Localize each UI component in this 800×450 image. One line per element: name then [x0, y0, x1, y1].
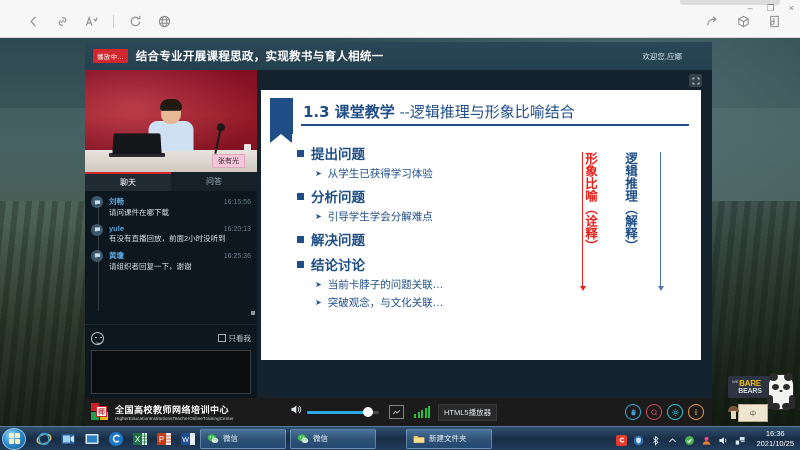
- speaker-video[interactable]: 张有光: [85, 70, 257, 172]
- chat-message-time: 16:25:36: [224, 253, 251, 260]
- brand-name-cn: 全国高校教师网络培训中心: [115, 403, 234, 416]
- bullet-arrow-icon: ➤: [315, 169, 322, 178]
- chat-message-time: 16:20:13: [224, 226, 251, 233]
- taskbar: X P W 微信 微信 新建文件夹: [0, 426, 800, 450]
- volume-slider-fill: [307, 411, 369, 414]
- bullet-level2: ➤ 突破观念，与文化关联…: [315, 295, 547, 310]
- sticker-logo-panel: WE BARE BEARS: [728, 376, 772, 398]
- windows-logo-icon: [9, 433, 20, 444]
- volume-slider[interactable]: [307, 411, 379, 414]
- back-icon[interactable]: [26, 14, 41, 29]
- system-tray: 16:36 2021/10/25: [616, 429, 800, 448]
- bullet-square-icon: [297, 193, 304, 200]
- bullet-level1: 提出问题: [297, 143, 547, 163]
- bullet-text: 从学生已获得学习体验: [328, 166, 433, 181]
- bullet-text: 当前卡脖子的问题关联…: [328, 277, 444, 292]
- bullet-level1: 分析问题: [297, 186, 547, 206]
- bullet-text: 提出问题: [311, 143, 365, 163]
- read-aloud-icon[interactable]: [84, 14, 99, 29]
- slide-viewport: 1.3 课堂教学 --逻辑推理与形象比喻结合 提出问题 ➤ 从学生已获得学习体验: [257, 70, 712, 398]
- screen: – ❐ ×: [0, 0, 800, 450]
- taskbar-clock[interactable]: 16:36 2021/10/25: [752, 429, 794, 448]
- chat-message-list[interactable]: 刘畅 16:15:56 请问课件在哪下载 yule 16:20:13: [85, 191, 257, 319]
- taskbar-item-wechat-2[interactable]: 微信: [290, 429, 376, 449]
- taskbar-item-folder[interactable]: 新建文件夹: [406, 429, 492, 449]
- vertical-label-blue: 逻辑推理（解释）: [615, 152, 637, 252]
- chat-message-author: 黄瓊: [109, 250, 124, 261]
- bullet-square-icon: [297, 150, 304, 157]
- bullet-level2: ➤ 引导学生学会分解难点: [315, 209, 547, 224]
- only-me-label: 只看我: [229, 333, 252, 344]
- bullet-arrow-icon: ➤: [315, 298, 322, 307]
- globe-icon[interactable]: [157, 14, 172, 29]
- chat-tabs: 聊天 问答: [85, 172, 257, 191]
- live-class-window: 播放中... 结合专业开展课程思政，实现教书与育人相统一 欢迎您,应娜: [85, 42, 712, 426]
- live-status-badge: 播放中...: [93, 49, 128, 63]
- bullet-level2: ➤ 从学生已获得学习体验: [315, 166, 547, 181]
- app-body: 张有光 聊天 问答: [85, 70, 712, 398]
- bluetooth-tray-icon[interactable]: [650, 433, 661, 444]
- svg-text:X: X: [135, 435, 141, 444]
- media-center-icon[interactable]: [60, 431, 76, 447]
- blue-arrow-line: [660, 152, 661, 287]
- bullet-text: 结论讨论: [311, 254, 365, 274]
- sogou-icon[interactable]: [108, 431, 124, 447]
- notes-icon[interactable]: [767, 14, 782, 29]
- quick-launch: X P W: [36, 431, 196, 447]
- wechat-icon: [207, 433, 219, 445]
- only-me-checkbox[interactable]: 只看我: [218, 333, 252, 344]
- chat-message: 黄瓊 16:25:36 请组织者回复一下，谢谢: [91, 250, 251, 272]
- left-column: 张有光 聊天 问答: [85, 70, 257, 398]
- bullet-arrow-icon: ➤: [315, 280, 322, 289]
- show-hidden-icon[interactable]: [667, 433, 678, 444]
- svg-text:W: W: [182, 437, 189, 444]
- slide-bullets: 提出问题 ➤ 从学生已获得学习体验 分析问题 ➤ 引导学生学会分解难点: [297, 138, 547, 313]
- clock-date: 2021/10/25: [756, 439, 794, 448]
- browser-toolbar-left: [26, 14, 172, 29]
- vertical-label-red: 形象比喻（诠释）: [575, 152, 597, 252]
- excel-icon[interactable]: X: [132, 431, 148, 447]
- volume-control[interactable]: [289, 403, 379, 421]
- speaker-nameplate: 张有光: [212, 154, 245, 168]
- volume-tray-icon[interactable]: [718, 433, 729, 444]
- folder-icon: [413, 433, 425, 445]
- network-tray-icon[interactable]: [735, 433, 746, 444]
- slide-title: 1.3 课堂教学 --逻辑推理与形象比喻结合: [303, 101, 689, 122]
- chat-message-text: 请组织者回复一下，谢谢: [109, 262, 251, 272]
- internet-explorer-icon[interactable]: [36, 431, 52, 447]
- settings-icon[interactable]: [667, 404, 683, 420]
- panda-icon: [768, 374, 794, 410]
- presentation-slide[interactable]: 1.3 课堂教学 --逻辑推理与形象比喻结合 提出问题 ➤ 从学生已获得学习体验: [261, 90, 701, 360]
- avatar: [91, 250, 103, 262]
- qa-icon[interactable]: [646, 404, 662, 420]
- bullet-square-icon: [297, 261, 304, 268]
- sticker-bears-text: BEARS: [738, 388, 762, 395]
- toolbar-separator: [113, 15, 114, 28]
- link-icon[interactable]: [55, 14, 70, 29]
- bullet-level1: 结论讨论: [297, 254, 547, 274]
- chat-message-author: 刘畅: [109, 196, 124, 207]
- bullet-level2: ➤ 当前卡脖子的问题关联…: [315, 277, 547, 292]
- slide-title-main: 1.3 课堂教学: [303, 103, 395, 121]
- chat-message: 刘畅 16:15:56 请问课件在哪下载: [91, 196, 251, 218]
- volume-slider-knob[interactable]: [363, 407, 373, 417]
- logo-mark-icon: 师: [91, 403, 111, 421]
- sticker-we-text: WE: [732, 379, 738, 384]
- wechat-icon: [297, 433, 309, 445]
- bullet-level1: 解决问题: [297, 229, 547, 249]
- app-header: 播放中... 结合专业开展课程思政，实现教书与育人相统一 欢迎您,应娜: [85, 42, 712, 70]
- bullet-text: 解决问题: [311, 229, 365, 249]
- tab-qa[interactable]: 问答: [171, 172, 257, 191]
- taskbar-item-label: 微信: [223, 433, 238, 444]
- chat-scrollbar[interactable]: [251, 311, 255, 315]
- bullet-text: 突破观念，与文化关联…: [328, 295, 444, 310]
- security-tray-icon[interactable]: [633, 433, 644, 444]
- bullet-text: 引导学生学会分解难点: [328, 209, 433, 224]
- brand-logo: 师 全国高校教师网络培训中心 HigherEducationInstitutio…: [85, 403, 275, 421]
- emoji-icon[interactable]: [91, 332, 104, 345]
- mushroom-icon: [728, 406, 739, 419]
- laptop-icon: [112, 133, 161, 154]
- minimize-button[interactable]: –: [748, 4, 753, 13]
- update-tray-icon[interactable]: [684, 433, 695, 444]
- svg-text:P: P: [159, 435, 164, 444]
- brand-name-en: HigherEducationInstitutionsTeacherOnline…: [115, 416, 234, 421]
- slide-title-sub: --逻辑推理与形象比喻结合: [395, 103, 575, 121]
- welcome-text: 欢迎您,应娜: [642, 51, 682, 62]
- player-type-label: HTML5播放器: [438, 404, 497, 421]
- browser-toolbar-right: [705, 14, 782, 29]
- avatar: [91, 224, 103, 236]
- we-bare-bears-sticker: WE BARE BEARS 中: [728, 374, 794, 422]
- refresh-icon[interactable]: [128, 14, 143, 29]
- chat-message-time: 16:15:56: [224, 199, 251, 206]
- chat-message-text: 有没有直播回放，前面2小时没听到: [109, 234, 251, 244]
- clock-time: 16:36: [756, 429, 794, 438]
- collections-icon[interactable]: [736, 14, 751, 29]
- word-icon[interactable]: W: [180, 431, 196, 447]
- sogou-tray-icon[interactable]: [616, 433, 627, 444]
- chat-input[interactable]: [91, 350, 251, 394]
- powerpoint-icon[interactable]: P: [156, 431, 172, 447]
- user-tray-icon[interactable]: [701, 433, 712, 444]
- maximize-button[interactable]: ❐: [767, 4, 775, 13]
- slide-ribbon-decoration: [270, 98, 293, 134]
- page-title: 结合专业开展课程思政，实现教书与育人相统一: [136, 48, 384, 64]
- tab-chat[interactable]: 聊天: [85, 172, 171, 191]
- logo-glyph: 师: [96, 406, 107, 417]
- cup-icon: [244, 144, 251, 153]
- close-button[interactable]: ×: [789, 4, 794, 13]
- taskbar-item-label: 微信: [313, 433, 328, 444]
- avatar: [91, 196, 103, 208]
- slide-title-underline: [301, 124, 689, 126]
- browser-chrome: – ❐ ×: [0, 0, 800, 38]
- chat-message: yule 16:20:13 有没有直播回放，前面2小时没听到: [91, 224, 251, 244]
- player-controls-bar: 师 全国高校教师网络培训中心 HigherEducationInstitutio…: [85, 398, 712, 426]
- fullscreen-icon[interactable]: [689, 74, 702, 87]
- sticker-card: 中: [738, 404, 768, 422]
- bullet-text: 分析问题: [311, 186, 365, 206]
- share-icon[interactable]: [705, 14, 720, 29]
- show-desktop-icon[interactable]: [84, 431, 100, 447]
- chat-panel: 聊天 问答 刘畅 16:15:56: [85, 172, 257, 398]
- volume-icon[interactable]: [289, 403, 302, 421]
- player-right-actions: i: [625, 404, 712, 420]
- chat-message-author: yule: [109, 224, 124, 233]
- sticker-bare-text: BARE: [739, 380, 761, 388]
- checkbox-box: [218, 334, 226, 342]
- bullet-arrow-icon: ➤: [315, 212, 322, 221]
- network-signal-icon: [414, 406, 430, 418]
- start-button[interactable]: [2, 428, 26, 450]
- taskbar-item-label: 新建文件夹: [429, 433, 467, 444]
- chat-message-text: 请问课件在哪下载: [109, 208, 251, 218]
- taskbar-item-wechat-1[interactable]: 微信: [200, 429, 286, 449]
- info-icon[interactable]: i: [688, 404, 704, 420]
- hand-raise-icon[interactable]: [625, 404, 641, 420]
- screen-mode-button[interactable]: [389, 405, 404, 419]
- bullet-square-icon: [297, 236, 304, 243]
- chat-composer: 只看我: [85, 324, 257, 398]
